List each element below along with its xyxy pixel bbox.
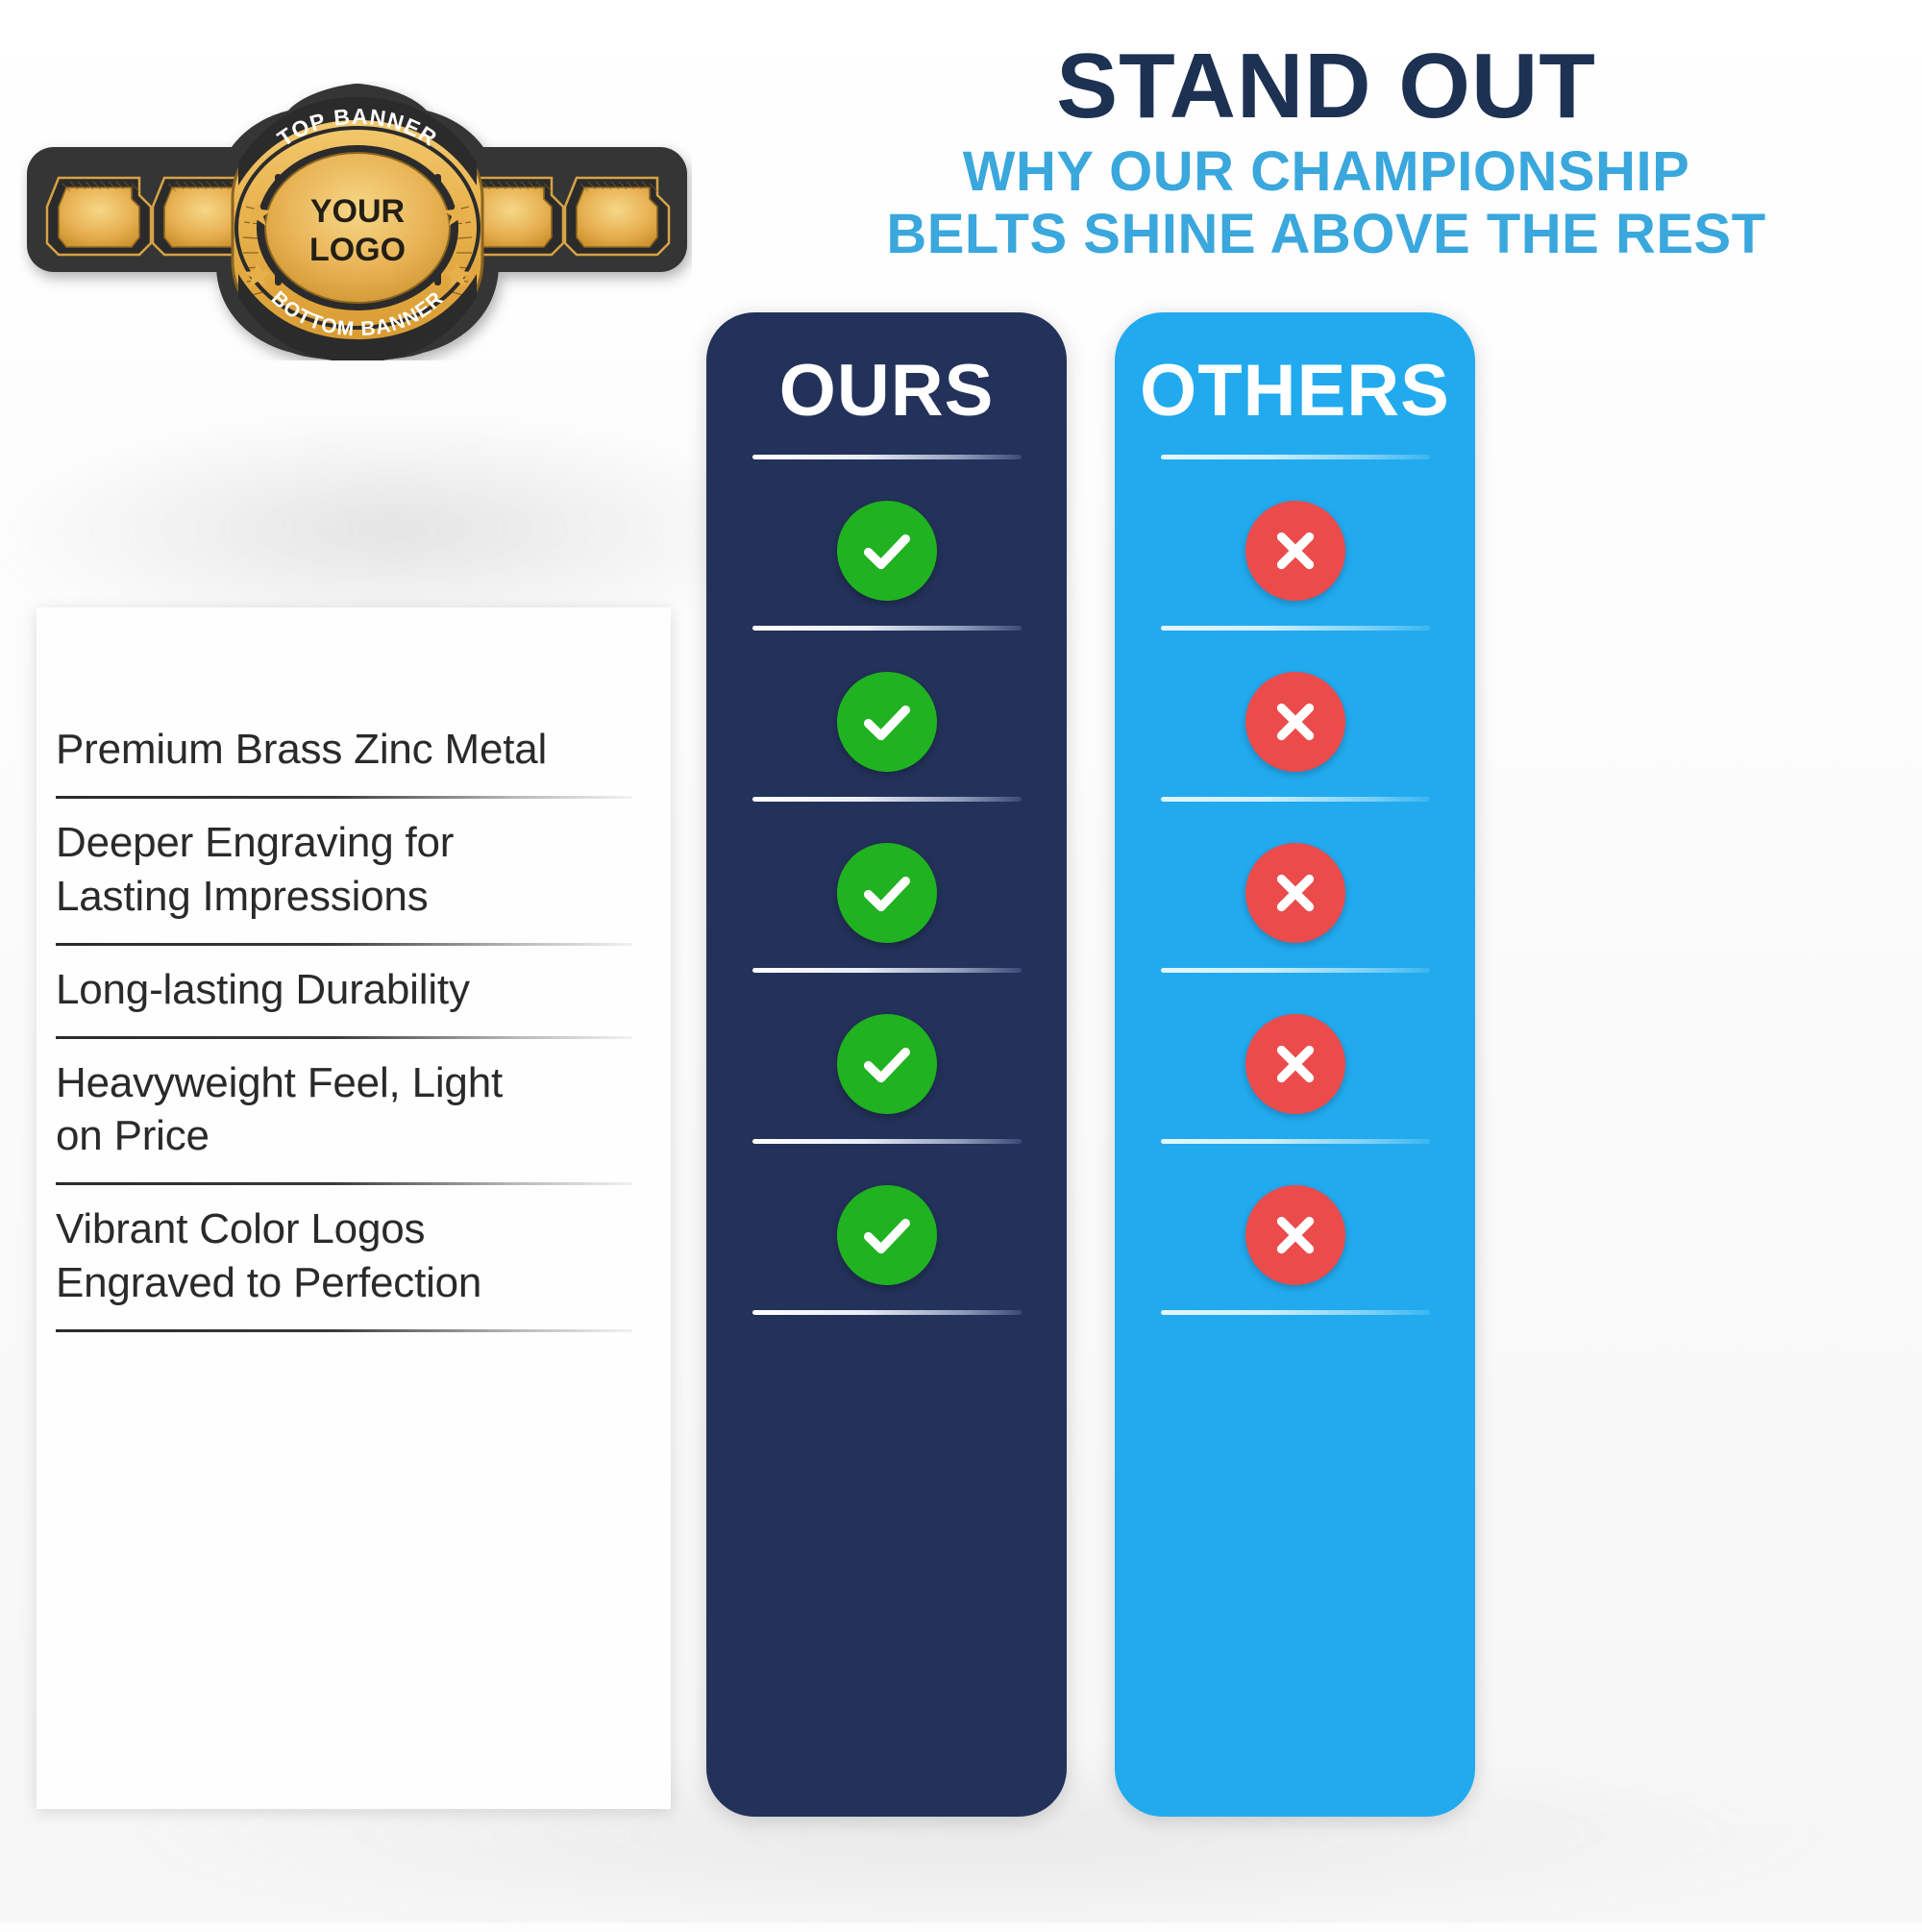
feature-item: Heavyweight Feel, Light on Price [56,1039,652,1186]
column-header-ours: OURS [706,349,1067,433]
check-mark-badge [837,501,937,601]
page-title: STAND OUT [730,38,1922,136]
row-divider [1161,455,1430,459]
comparison-row [706,455,1067,626]
row-divider [752,626,1022,631]
feature-item: Long-lasting Durability [56,946,652,1039]
check-mark-badge [837,843,937,943]
feature-list: Premium Brass Zinc MetalDeeper Engraving… [56,706,652,1332]
championship-belt-image: TOP BANNER BOTTOM BANNER YOUR LOGO [19,82,692,360]
row-divider [752,1139,1022,1144]
comparison-row [1115,626,1475,797]
check-icon [857,863,917,923]
comparison-row [1115,968,1475,1139]
cross-mark-badge [1245,501,1345,601]
column-header-others: OTHERS [1115,349,1475,433]
check-icon [857,1205,917,1265]
row-divider [1161,1139,1430,1144]
comparison-row [706,797,1067,968]
row-divider [1161,968,1430,973]
comparison-row [1115,455,1475,626]
check-mark-badge [837,672,937,772]
cross-mark-badge [1245,843,1345,943]
page-subtitle-line1: WHY OUR CHAMPIONSHIP [730,141,1922,204]
cross-icon [1266,521,1325,581]
column-rows-ours [706,455,1067,1320]
feature-item-label: Deeper Engraving for Lasting Impressions [56,799,652,943]
feature-list-card: Premium Brass Zinc MetalDeeper Engraving… [37,607,671,1809]
comparison-row [706,968,1067,1139]
feature-item-label: Premium Brass Zinc Metal [56,706,652,796]
check-icon [857,521,917,581]
headline-block: STAND OUT WHY OUR CHAMPIONSHIP BELTS SHI… [730,38,1922,266]
row-divider [752,797,1022,802]
belt-logo-line2: LOGO [309,232,406,268]
check-icon [857,692,917,752]
comparison-row-footer [1115,1310,1475,1320]
row-divider [752,968,1022,973]
check-icon [857,1034,917,1094]
cross-mark-badge [1245,1014,1345,1114]
cross-icon [1266,692,1325,752]
feature-item-label: Heavyweight Feel, Light on Price [56,1039,652,1183]
column-rows-others [1115,455,1475,1320]
cross-mark-badge [1245,672,1345,772]
cross-icon [1266,1034,1325,1094]
feature-item-label: Vibrant Color Logos Engraved to Perfecti… [56,1185,652,1329]
comparison-column-ours[interactable]: OURS [706,312,1067,1817]
row-divider [1161,626,1430,631]
comparison-row [706,626,1067,797]
row-divider [1161,797,1430,802]
comparison-row-footer [706,1310,1067,1320]
feature-divider [56,1329,632,1332]
comparison-row [1115,797,1475,968]
feature-item: Vibrant Color Logos Engraved to Perfecti… [56,1185,652,1332]
comparison-panels: OURS OTHERS [706,312,1922,1821]
row-divider [752,455,1022,459]
check-mark-badge [837,1185,937,1285]
cross-icon [1266,1205,1325,1265]
feature-item: Premium Brass Zinc Metal [56,706,652,799]
check-mark-badge [837,1014,937,1114]
comparison-row [706,1139,1067,1310]
feature-item-label: Long-lasting Durability [56,946,652,1036]
row-divider [752,1310,1022,1315]
cross-mark-badge [1245,1185,1345,1285]
comparison-column-others[interactable]: OTHERS [1115,312,1475,1817]
belt-logo-line1: YOUR [310,193,405,230]
cross-icon [1266,863,1325,923]
comparison-row [1115,1139,1475,1310]
page-subtitle-line2: BELTS SHINE ABOVE THE REST [730,204,1922,266]
row-divider [1161,1310,1430,1315]
feature-item: Deeper Engraving for Lasting Impressions [56,799,652,946]
